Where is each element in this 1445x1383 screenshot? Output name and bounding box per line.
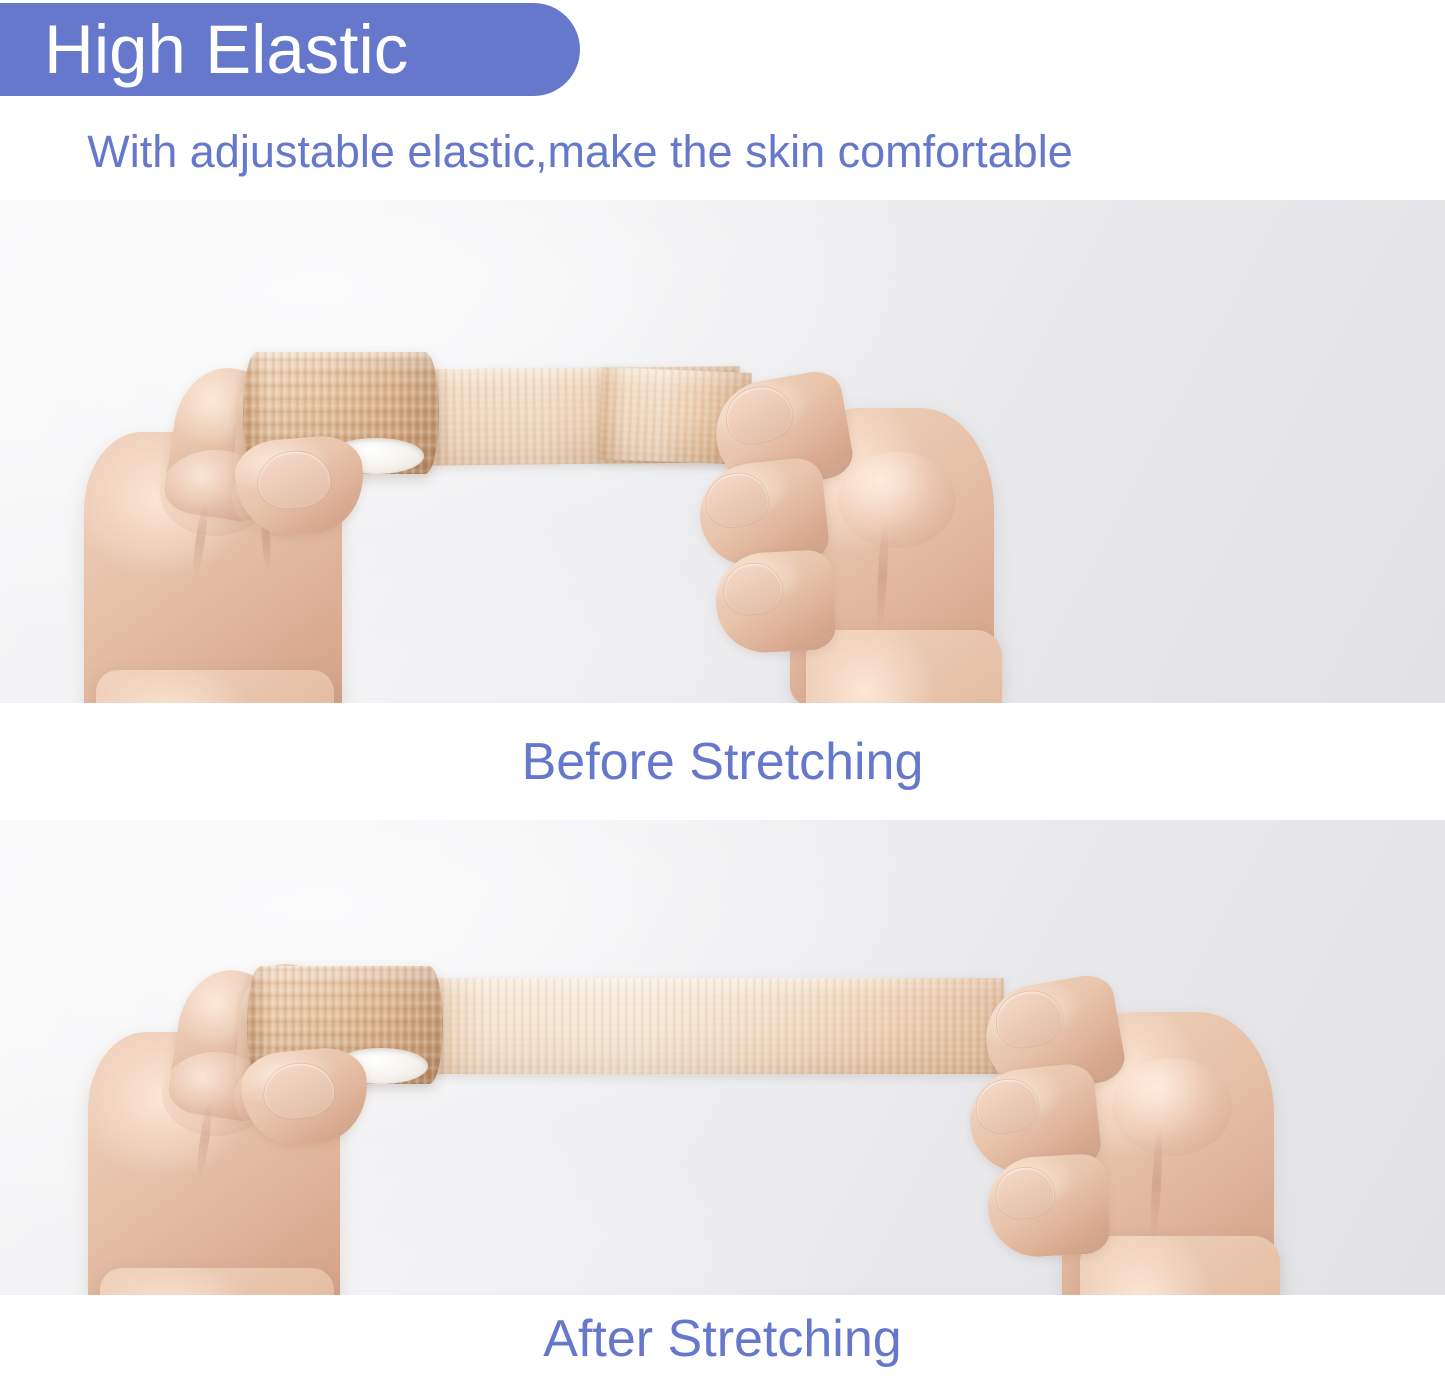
photo-after-stretching (0, 820, 1445, 1295)
header-badge-label: High Elastic (0, 15, 408, 84)
right-hand-knuckle (1112, 1058, 1232, 1156)
photo-before-stretching (0, 200, 1445, 703)
left-hand-wrist (100, 1268, 334, 1295)
right-hand-wrist (1080, 1236, 1280, 1295)
tape-weave-texture (404, 978, 1004, 1074)
caption-before-stretching: Before Stretching (0, 703, 1445, 820)
header-subtitle: With adjustable elastic,make the skin co… (0, 113, 1160, 191)
caption-after-stretching: After Stretching (0, 1295, 1445, 1383)
header-badge: High Elastic (0, 3, 580, 96)
right-hand-wrist (806, 630, 1002, 703)
right-hand-knuckle (838, 452, 956, 548)
bandage-tape-stretched (404, 978, 1004, 1074)
left-hand-wrist (96, 670, 334, 703)
